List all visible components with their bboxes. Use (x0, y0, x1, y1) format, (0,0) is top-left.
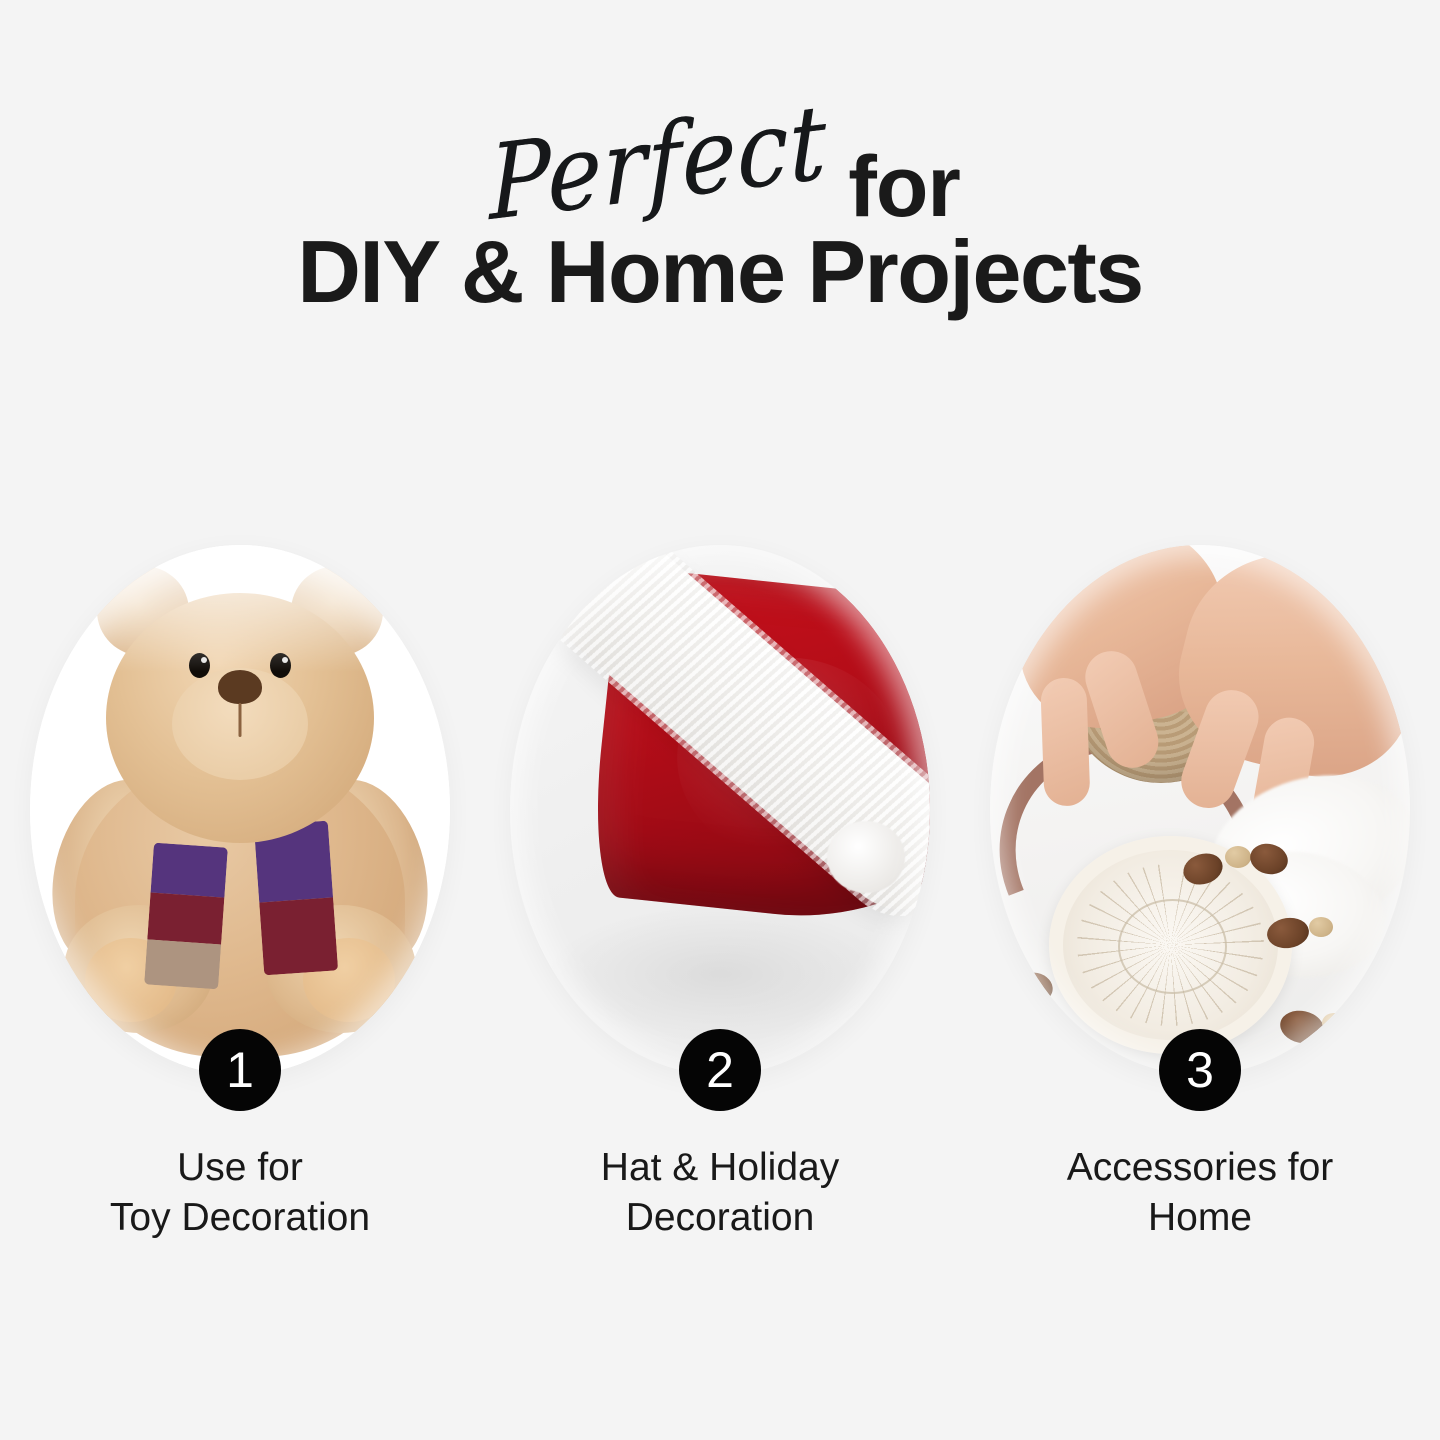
step-badge-1: 1 (199, 1029, 281, 1111)
feature-caption-3: Accessories for Home (1067, 1143, 1334, 1243)
feature-caption-1: Use for Toy Decoration (110, 1143, 370, 1243)
headline-line-one: Perfect for (0, 120, 1440, 230)
finger (1040, 677, 1090, 807)
teddy-bear-illustration (30, 545, 450, 1075)
photo-wrap-3: 3 (990, 545, 1410, 1075)
scarf-band-tan (144, 939, 221, 989)
hat-pom-pom (827, 821, 905, 893)
hat-drop-shadow (544, 905, 897, 1043)
wooden-bead (1277, 1007, 1327, 1047)
feature-cards-row: 1 Use for Toy Decoration 2 Hat & Holiday… (0, 545, 1440, 1243)
feature-card-3[interactable]: 3 Accessories for Home (975, 545, 1425, 1243)
step-badge-2: 2 (679, 1029, 761, 1111)
feature-caption-2: Hat & Holiday Decoration (601, 1143, 839, 1243)
feature-card-2[interactable]: 2 Hat & Holiday Decoration (495, 545, 945, 1243)
headline-block: Perfect for DIY & Home Projects (0, 0, 1440, 360)
dreamcatcher-web (1077, 864, 1264, 1026)
step-badge-number: 1 (226, 1045, 254, 1095)
scarf-strip-left (144, 842, 228, 989)
photo-dreamcatcher-craft (990, 545, 1410, 1075)
scarf-band-maroon (147, 892, 224, 944)
scarf-strip-right (254, 820, 338, 975)
scarf-band-purple (151, 842, 228, 897)
headline-script-word: Perfect (488, 91, 827, 236)
feature-card-1[interactable]: 1 Use for Toy Decoration (15, 545, 465, 1243)
wooden-bead (1016, 968, 1058, 1006)
step-badge-3: 3 (1159, 1029, 1241, 1111)
santa-hat-illustration (510, 545, 930, 1075)
headline-bold-word: for (848, 144, 960, 230)
step-badge-number: 2 (706, 1045, 734, 1095)
bear-scarf (145, 821, 335, 1001)
photo-wrap-1: 1 (30, 545, 450, 1075)
craft-illustration (990, 545, 1410, 1075)
photo-teddy-bear (30, 545, 450, 1075)
page-title: DIY & Home Projects (0, 228, 1440, 316)
bear-fur-highlight (30, 545, 450, 672)
photo-wrap-2: 2 (510, 545, 930, 1075)
step-badge-number: 3 (1186, 1045, 1214, 1095)
wooden-bead (1340, 1003, 1385, 1041)
scarf-band-maroon (259, 897, 338, 975)
bear-nose (218, 670, 262, 704)
photo-santa-hat (510, 545, 930, 1075)
